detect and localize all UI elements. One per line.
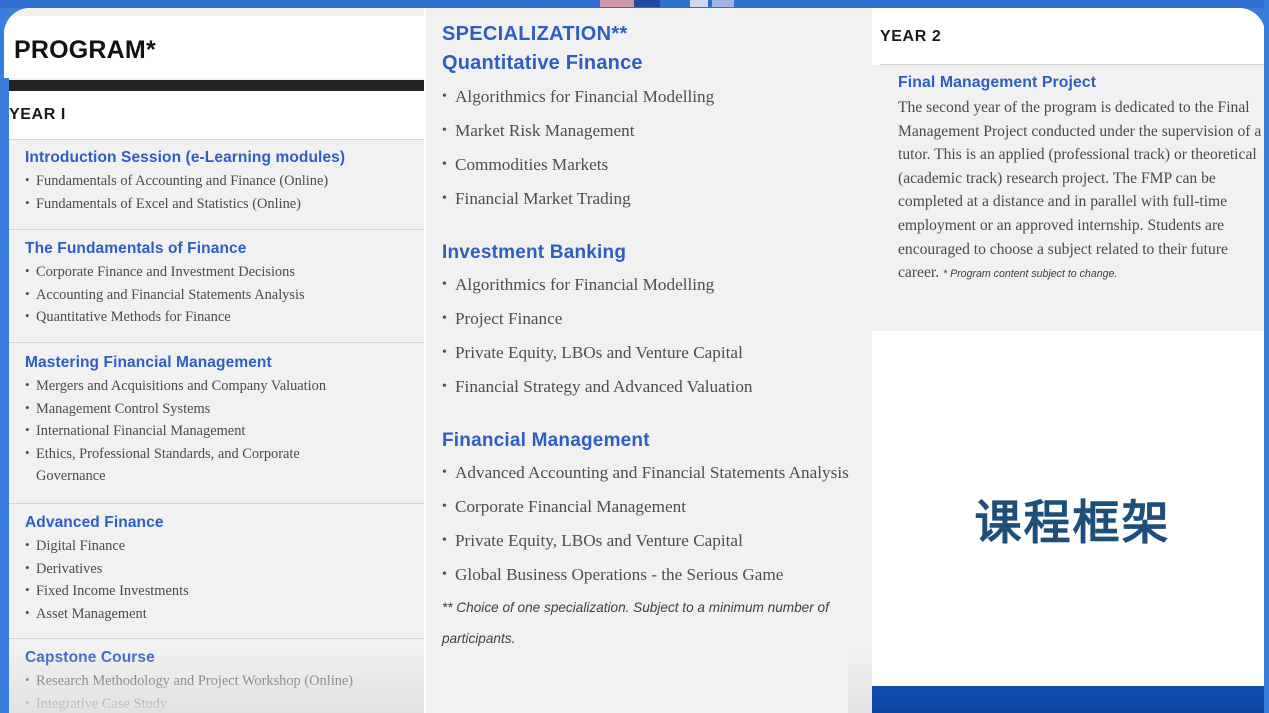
list-item: Fundamentals of Accounting and Finance (…: [25, 170, 424, 193]
final-management-project-card: Final Management Project The second year…: [872, 65, 1265, 331]
right-blue-accent-bar: [1264, 0, 1269, 713]
list-item: Financial Market Trading: [442, 182, 872, 216]
chinese-caption: 课程框架: [872, 484, 1265, 553]
block-title: Introduction Session (e-Learning modules…: [25, 149, 424, 167]
program-block-intro: Introduction Session (e-Learning modules…: [9, 149, 424, 215]
slide-content-frame: PROGRAM* YEAR I Introduction Session (e-…: [4, 8, 1265, 713]
left-column-fade: [9, 648, 424, 713]
list-item: Financial Strategy and Advanced Valuatio…: [442, 370, 872, 404]
list-item: Algorithmics for Financial Modelling: [442, 268, 872, 302]
list-item: Private Equity, LBOs and Venture Capital: [442, 524, 872, 558]
card-title: Final Management Project: [898, 74, 1096, 92]
list-item: Advanced Accounting and Financial Statem…: [442, 456, 872, 490]
block-title: The Fundamentals of Finance: [25, 240, 424, 258]
bottom-blue-bar: [872, 686, 1265, 713]
page-title: PROGRAM*: [14, 36, 156, 65]
card-fine-print: * Program content subject to change.: [943, 268, 1117, 280]
specialization-footnote: ** Choice of one specialization. Subject…: [442, 592, 842, 654]
block-items: Fundamentals of Accounting and Finance (…: [9, 170, 424, 215]
specialization-group-title: Financial Management: [442, 426, 872, 456]
chinese-caption-area: 课程框架: [872, 332, 1265, 672]
divider: [9, 139, 424, 140]
year1-band: [9, 91, 424, 139]
list-item: Project Finance: [442, 302, 872, 336]
block-items: Digital Finance Derivatives Fixed Income…: [9, 535, 424, 625]
divider: [9, 342, 424, 343]
block-items: Mergers and Acquisitions and Company Val…: [9, 375, 424, 488]
specialization-column: SPECIALIZATION** Quantitative Finance Al…: [426, 8, 872, 713]
program-header: PROGRAM*: [4, 16, 424, 78]
block-title: Mastering Financial Management: [25, 354, 424, 372]
divider: [9, 229, 424, 230]
list-item: Asset Management: [25, 603, 424, 626]
list-item: Digital Finance: [25, 535, 424, 558]
year2-column: YEAR 2 Final Management Project The seco…: [872, 8, 1265, 713]
list-item: Corporate Finance and Investment Decisio…: [25, 261, 424, 284]
list-item: Market Risk Management: [442, 114, 872, 148]
divider: [9, 503, 424, 504]
list-item: Private Equity, LBOs and Venture Capital: [442, 336, 872, 370]
specialization-group-items: Algorithmics for Financial Modelling Mar…: [442, 80, 872, 216]
slide-canvas: PROGRAM* YEAR I Introduction Session (e-…: [0, 0, 1269, 713]
top-artifact-blue: [712, 0, 734, 7]
specialization-content: SPECIALIZATION** Quantitative Finance Al…: [442, 20, 872, 654]
list-item: Corporate Financial Management: [442, 490, 872, 524]
program-divider-bar: [9, 80, 424, 91]
top-artifact-pink: [600, 0, 634, 7]
specialization-group-items: Advanced Accounting and Financial Statem…: [442, 456, 872, 592]
card-body: The second year of the program is dedica…: [898, 96, 1265, 287]
divider: [9, 638, 424, 639]
specialization-group-items: Algorithmics for Financial Modelling Pro…: [442, 268, 872, 404]
program-column: PROGRAM* YEAR I Introduction Session (e-…: [4, 8, 424, 713]
year2-label: YEAR 2: [880, 28, 941, 46]
list-item: Accounting and Financial Statements Anal…: [25, 284, 424, 307]
top-artifact-navy: [634, 0, 660, 7]
specialization-group-title: Quantitative Finance: [442, 48, 872, 78]
list-item: Global Business Operations - the Serious…: [442, 558, 872, 592]
list-item: Fixed Income Investments: [25, 580, 424, 603]
top-artifact-light: [690, 0, 708, 7]
list-item: Algorithmics for Financial Modelling: [442, 80, 872, 114]
list-item: Ethics, Professional Standards, and Corp…: [25, 443, 366, 488]
program-block-mastering: Mastering Financial Management Mergers a…: [9, 354, 424, 488]
program-block-advanced: Advanced Finance Digital Finance Derivat…: [9, 514, 424, 625]
list-item: Commodities Markets: [442, 148, 872, 182]
spacer: [442, 216, 872, 238]
spacer: [442, 404, 872, 426]
block-title: Advanced Finance: [25, 514, 424, 532]
list-item: Mergers and Acquisitions and Company Val…: [25, 375, 424, 398]
list-item: Derivatives: [25, 558, 424, 581]
list-item: International Financial Management: [25, 420, 424, 443]
list-item: Quantitative Methods for Finance: [25, 306, 424, 329]
list-item: Management Control Systems: [25, 398, 424, 421]
card-body-text: The second year of the program is dedica…: [898, 99, 1261, 281]
program-block-fundamentals: The Fundamentals of Finance Corporate Fi…: [9, 240, 424, 329]
specialization-group-title: Investment Banking: [442, 238, 872, 268]
specialization-kicker: SPECIALIZATION**: [442, 20, 872, 48]
list-item: Fundamentals of Excel and Statistics (On…: [25, 193, 424, 216]
block-items: Corporate Finance and Investment Decisio…: [9, 261, 424, 329]
year1-label: YEAR I: [9, 106, 66, 124]
top-blue-strip: [0, 0, 1269, 8]
